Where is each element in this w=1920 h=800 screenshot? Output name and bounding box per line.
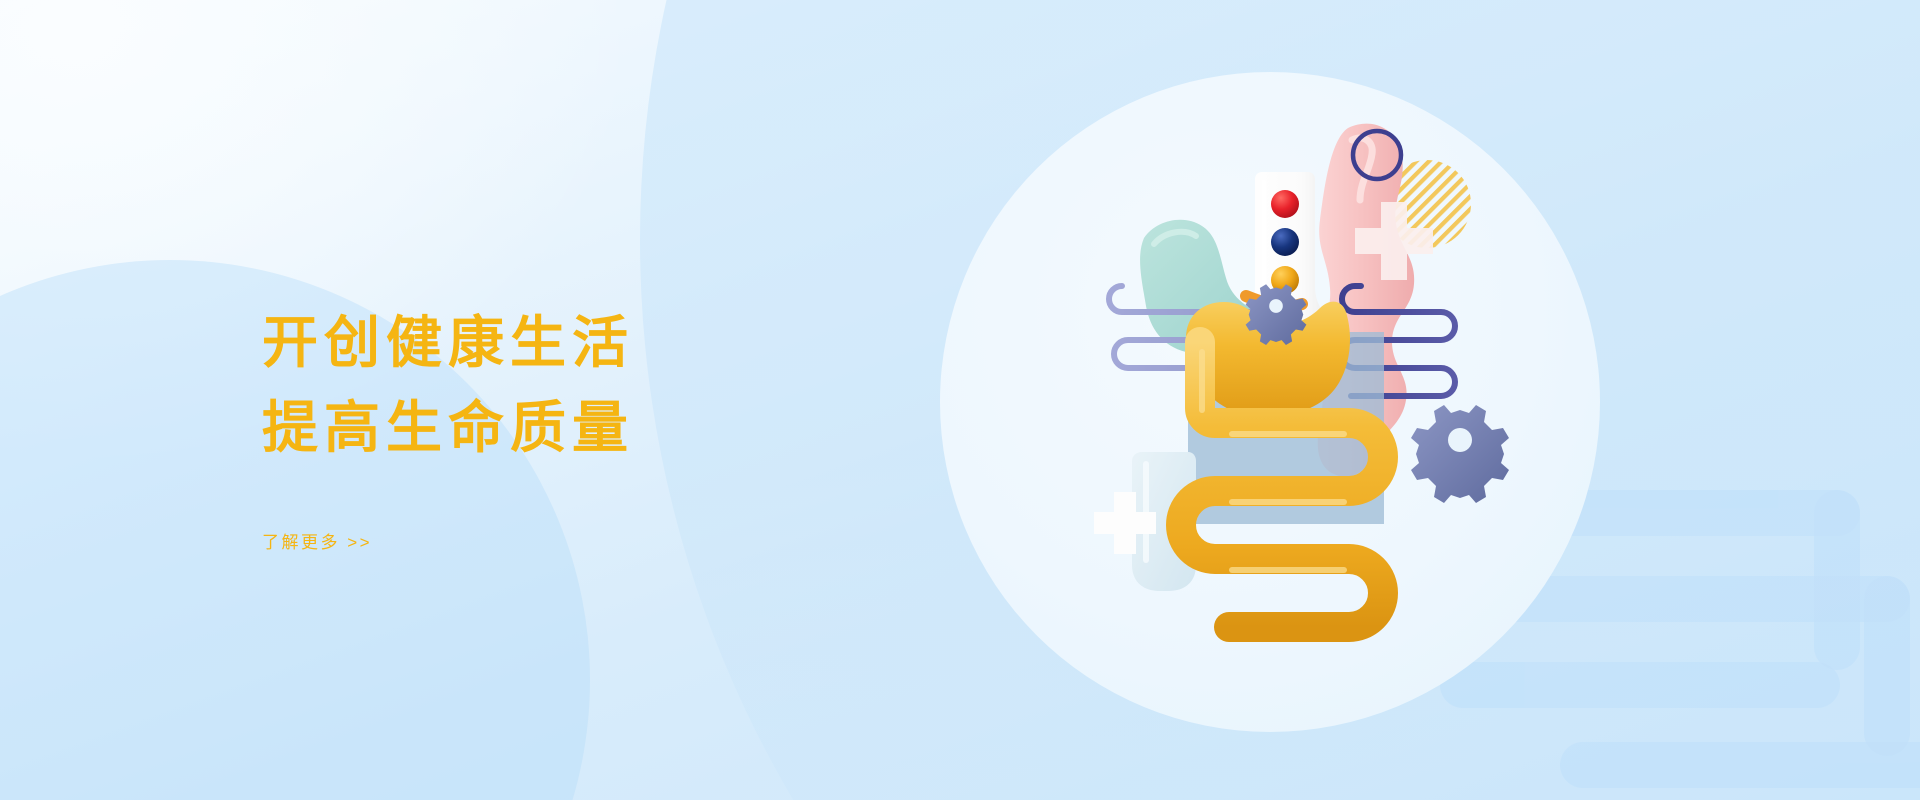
gear-large-icon: [1411, 405, 1509, 503]
pill-dot-red-icon: [1271, 190, 1299, 218]
learn-more-link[interactable]: 了解更多 >>: [262, 528, 372, 553]
page-title: 开创健康生活 提高生命质量: [262, 300, 822, 470]
hero-copy: 开创健康生活 提高生命质量 了解更多 >>: [262, 300, 822, 553]
pill-dot-navy-icon: [1271, 228, 1299, 256]
digestive-system-illustration: [1080, 100, 1600, 720]
hero-banner: 开创健康生活 提高生命质量 了解更多 >>: [0, 0, 1920, 800]
headline-line-1: 开创健康生活: [262, 311, 634, 374]
headline-line-2: 提高生命质量: [262, 385, 822, 470]
